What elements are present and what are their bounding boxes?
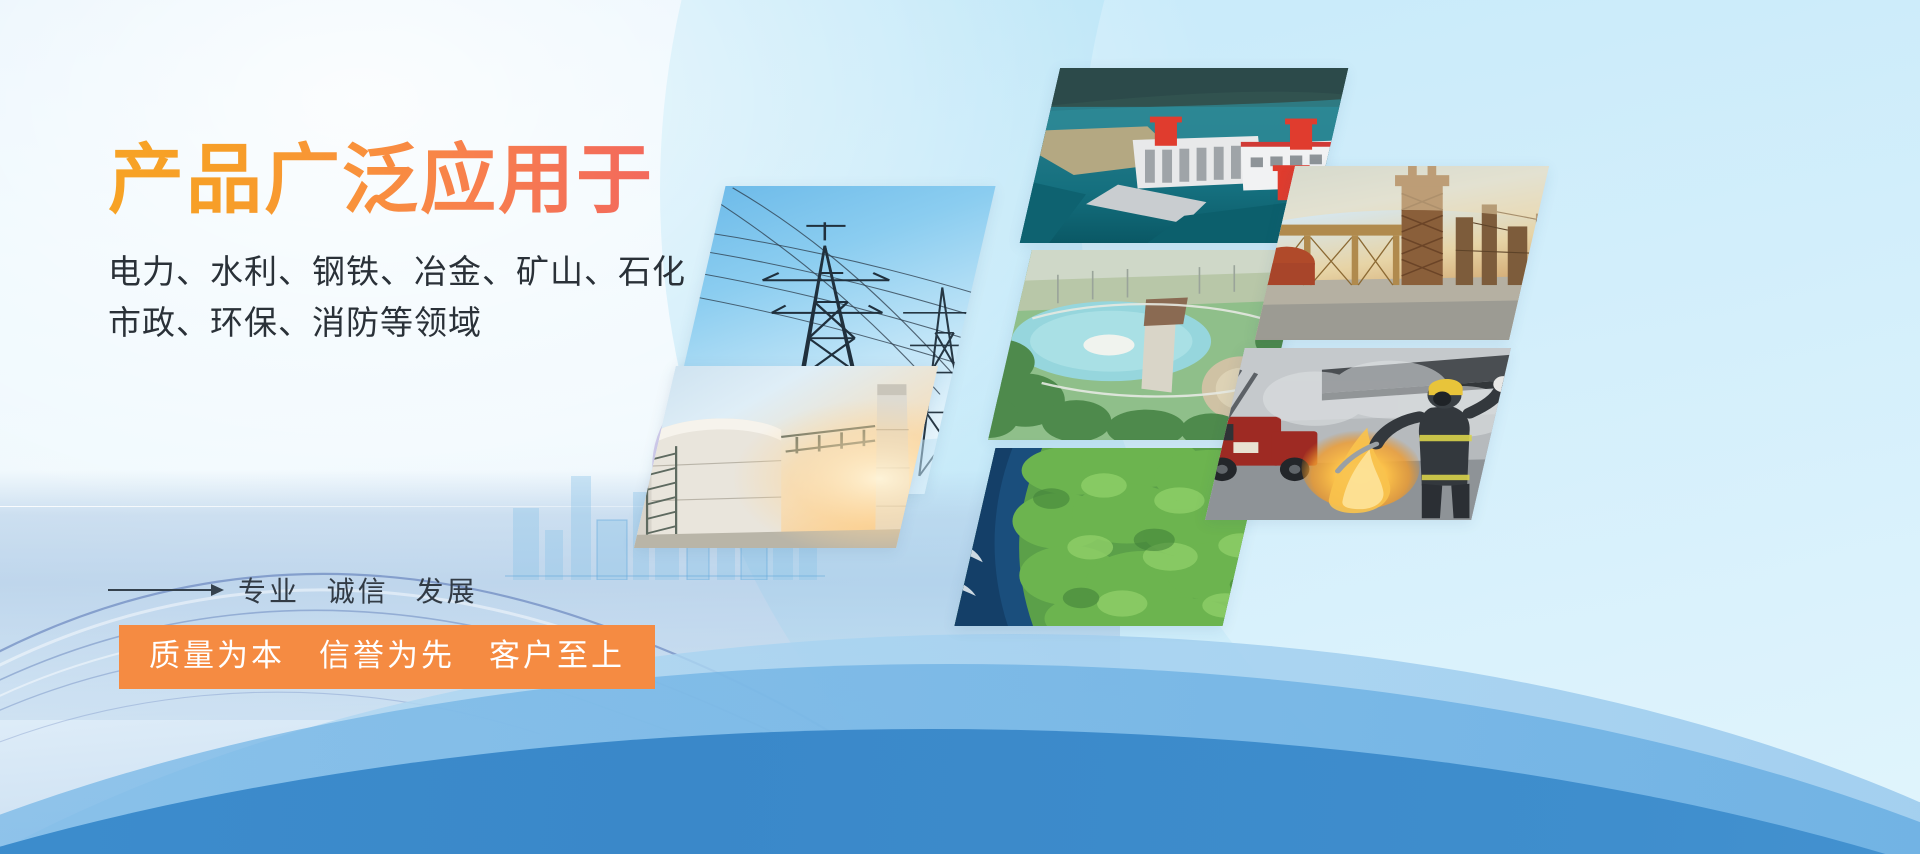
slogan-item-2: 客户至上	[489, 639, 625, 673]
long-arrow-right-icon	[108, 584, 224, 596]
subtitle-line-2: 市政、环保、消防等领域	[108, 297, 748, 348]
slogan-item-1: 信誉为先	[319, 639, 455, 673]
slogan-bar[interactable]: 质量为本 信誉为先 客户至上	[119, 625, 655, 689]
banner-copy: 产品广泛应用于 电力、水利、钢铁、冶金、矿山、石化 市政、环保、消防等领域	[108, 140, 748, 348]
steel-metallurgy-plant-photo[interactable]	[1255, 166, 1549, 340]
motto-item-0: 专业	[238, 576, 300, 607]
firefighter-training-photo[interactable]	[1205, 348, 1511, 520]
page-title: 产品广泛应用于	[108, 140, 654, 222]
petrochemical-storage-tanks-photo[interactable]	[634, 366, 938, 548]
slogan-item-0: 质量为本	[149, 639, 285, 673]
subtitle-line-1: 电力、水利、钢铁、冶金、矿山、石化	[108, 246, 748, 297]
motto-item-2: 发展	[416, 576, 478, 607]
banner-subtitle: 电力、水利、钢铁、冶金、矿山、石化 市政、环保、消防等领域	[108, 246, 748, 348]
motto-text: 专业 诚信 发展	[238, 570, 478, 610]
hero-banner: 产品广泛应用于 电力、水利、钢铁、冶金、矿山、石化 市政、环保、消防等领域 专业…	[0, 0, 1920, 854]
motto-item-1: 诚信	[327, 576, 389, 607]
motto-row: 专业 诚信 发展	[108, 570, 478, 610]
